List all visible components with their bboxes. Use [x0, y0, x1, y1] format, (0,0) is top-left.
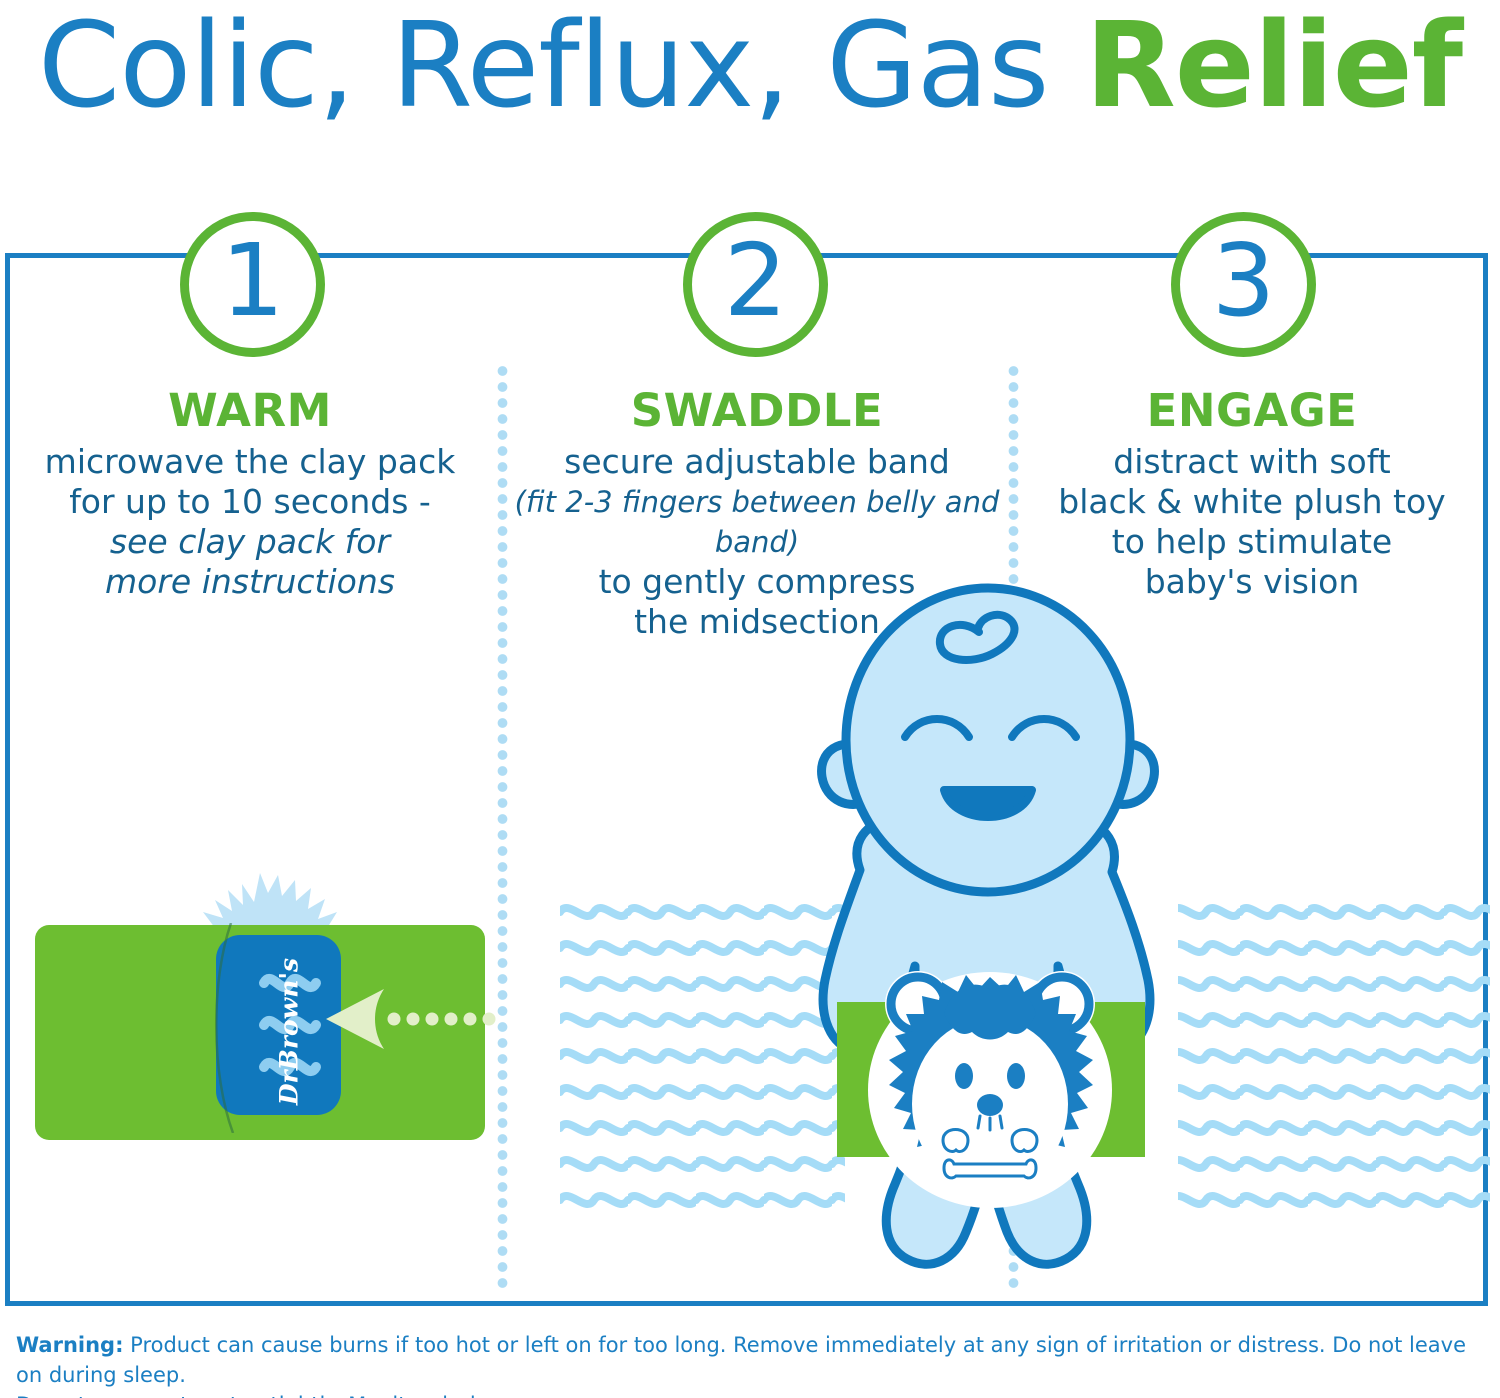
infographic-root: Colic, Reflux, Gas Relief DrBrown's	[0, 0, 1500, 1398]
step-2-line-4: the midsection	[512, 602, 1002, 642]
title-blue-part: Colic, Reflux, Gas	[38, 0, 1049, 134]
wave-lines-left-icon	[560, 892, 845, 1228]
step-1-illustration: DrBrown's	[20, 855, 500, 1185]
clay-pack-seam-icon	[202, 923, 236, 1133]
step-3-line-2: black & white plush toy	[1018, 482, 1486, 522]
step-number-circle-1: 1	[180, 212, 325, 357]
step-3-line-4: baby's vision	[1018, 562, 1486, 602]
step-3-line-1: distract with soft	[1018, 442, 1486, 482]
title-green-part: Relief	[1085, 0, 1462, 134]
step-1-line-2: for up to 10 seconds -	[10, 482, 490, 522]
step-heading-2: SWADDLE	[512, 385, 1002, 437]
step-1-line-3: see clay pack for	[10, 522, 490, 562]
step-body-2: secure adjustable band (fit 2-3 fingers …	[512, 442, 1002, 642]
hedgehog-plush-icon	[868, 971, 1112, 1208]
step-number-1: 1	[221, 231, 285, 339]
step-1-line-1: microwave the clay pack	[10, 442, 490, 482]
brand-logo-text: DrBrown's	[275, 942, 304, 1122]
warning-text: Warning: Product can cause burns if too …	[16, 1330, 1491, 1398]
step-body-1: microwave the clay pack for up to 10 sec…	[10, 442, 490, 602]
step-heading-1: WARM	[10, 385, 490, 437]
step-column-2: SWADDLE secure adjustable band (fit 2-3 …	[512, 385, 1002, 642]
step-body-3: distract with soft black & white plush t…	[1018, 442, 1486, 602]
step-number-circle-3: 3	[1171, 212, 1316, 357]
step-column-3: ENGAGE distract with soft black & white …	[1018, 385, 1486, 602]
step-2-line-1: secure adjustable band	[512, 442, 1002, 482]
step-2-line-3: to gently compress	[512, 562, 1002, 602]
step-number-3: 3	[1212, 231, 1276, 339]
step-number-circle-2: 2	[683, 212, 828, 357]
warning-line-1: Warning: Product can cause burns if too …	[16, 1330, 1491, 1390]
step-number-2: 2	[724, 231, 788, 339]
warning-body-1: Product can cause burns if too hot or le…	[16, 1333, 1466, 1387]
insert-arrow-icon	[320, 965, 500, 1075]
warning-label: Warning:	[16, 1333, 123, 1357]
page-title: Colic, Reflux, Gas Relief	[0, 2, 1500, 128]
step-2-line-2: (fit 2-3 fingers between belly and band)	[512, 482, 1002, 562]
baby-illustration	[560, 570, 1490, 1290]
step-3-line-3: to help stimulate	[1018, 522, 1486, 562]
step-1-line-4: more instructions	[10, 562, 490, 602]
step-column-1: WARM microwave the clay pack for up to 1…	[10, 385, 490, 602]
baby-figure-icon	[560, 570, 1490, 1290]
warning-line-2: Do not secure strap too tightly. Monitor…	[16, 1390, 1491, 1398]
step-heading-3: ENGAGE	[1018, 385, 1486, 437]
wave-lines-right-icon	[1178, 892, 1490, 1228]
